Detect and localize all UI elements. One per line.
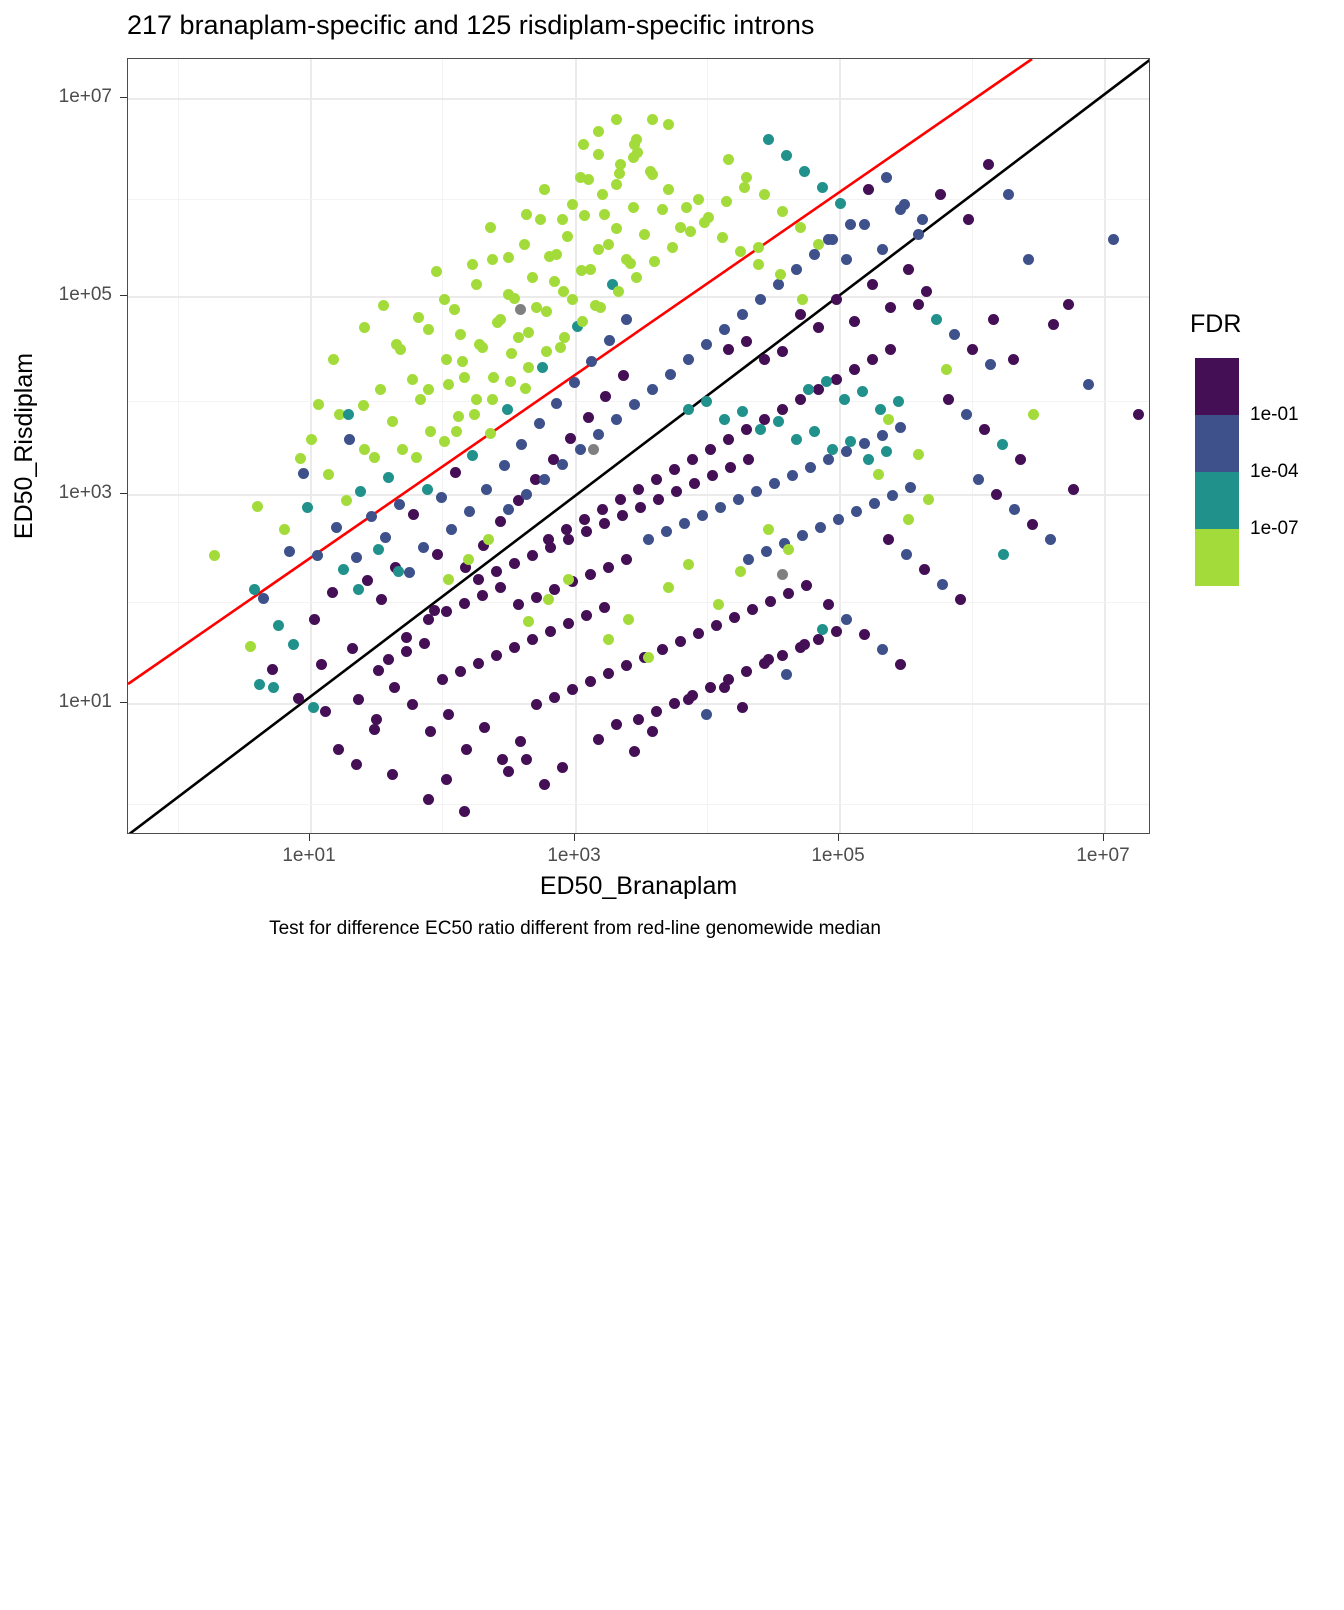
data-point bbox=[921, 286, 932, 297]
data-point bbox=[791, 264, 802, 275]
data-point bbox=[483, 534, 494, 545]
data-point bbox=[867, 279, 878, 290]
data-point bbox=[575, 172, 586, 183]
data-point bbox=[485, 222, 496, 233]
data-point bbox=[449, 304, 460, 315]
data-point bbox=[633, 714, 644, 725]
data-point bbox=[539, 474, 550, 485]
data-point bbox=[629, 139, 640, 150]
data-point bbox=[563, 618, 574, 629]
x-tick-label: 1e+03 bbox=[547, 845, 600, 867]
data-point bbox=[279, 524, 290, 535]
data-point bbox=[557, 214, 568, 225]
data-point bbox=[378, 300, 389, 311]
data-point bbox=[649, 256, 660, 267]
data-point bbox=[733, 494, 744, 505]
data-point bbox=[707, 470, 718, 481]
data-point bbox=[773, 279, 784, 290]
data-point bbox=[359, 322, 370, 333]
data-point bbox=[506, 348, 517, 359]
data-point bbox=[461, 744, 472, 755]
data-point bbox=[903, 514, 914, 525]
data-point bbox=[413, 312, 424, 323]
data-point bbox=[583, 412, 594, 423]
data-point bbox=[333, 744, 344, 755]
data-point bbox=[615, 159, 626, 170]
data-point bbox=[913, 299, 924, 310]
data-point bbox=[739, 182, 750, 193]
data-point bbox=[831, 374, 842, 385]
data-point bbox=[599, 209, 610, 220]
data-point bbox=[675, 222, 686, 233]
data-point bbox=[615, 494, 626, 505]
data-point bbox=[857, 386, 868, 397]
data-point bbox=[941, 364, 952, 375]
data-point bbox=[827, 444, 838, 455]
data-point bbox=[799, 639, 810, 650]
data-point bbox=[769, 478, 780, 489]
data-point bbox=[697, 510, 708, 521]
data-point bbox=[783, 588, 794, 599]
data-point bbox=[369, 452, 380, 463]
data-point bbox=[497, 754, 508, 765]
data-point bbox=[455, 666, 466, 677]
data-point bbox=[355, 486, 366, 497]
data-points-layer bbox=[128, 59, 1150, 834]
data-point bbox=[509, 642, 520, 653]
data-point bbox=[725, 462, 736, 473]
data-point bbox=[443, 379, 454, 390]
data-point bbox=[521, 754, 532, 765]
data-point bbox=[735, 566, 746, 577]
data-point bbox=[621, 254, 632, 265]
data-point bbox=[502, 404, 513, 415]
data-point bbox=[905, 482, 916, 493]
data-point bbox=[943, 394, 954, 405]
x-tick-mark bbox=[838, 834, 839, 841]
data-point bbox=[621, 554, 632, 565]
data-point bbox=[503, 252, 514, 263]
data-point bbox=[701, 396, 712, 407]
data-point bbox=[661, 526, 672, 537]
data-point bbox=[823, 599, 834, 610]
legend-color-segment bbox=[1195, 415, 1239, 472]
data-point bbox=[913, 449, 924, 460]
data-point bbox=[885, 302, 896, 313]
data-point bbox=[422, 484, 433, 495]
data-point bbox=[557, 459, 568, 470]
data-point bbox=[535, 214, 546, 225]
data-point bbox=[747, 604, 758, 615]
legend-key-label: 1e-07 bbox=[1250, 518, 1299, 540]
data-point bbox=[777, 346, 788, 357]
data-point bbox=[885, 344, 896, 355]
data-point bbox=[1009, 504, 1020, 515]
data-point bbox=[759, 354, 770, 365]
data-point bbox=[717, 232, 728, 243]
data-point bbox=[463, 554, 474, 565]
data-point bbox=[755, 294, 766, 305]
data-point bbox=[863, 454, 874, 465]
data-point bbox=[963, 214, 974, 225]
legend-colorbar bbox=[1195, 358, 1239, 586]
data-point bbox=[457, 356, 468, 367]
data-point bbox=[701, 709, 712, 720]
data-point bbox=[477, 590, 488, 601]
data-point bbox=[723, 154, 734, 165]
data-point bbox=[675, 636, 686, 647]
data-point bbox=[1048, 319, 1059, 330]
data-point bbox=[763, 134, 774, 145]
data-point bbox=[593, 429, 604, 440]
data-point bbox=[443, 574, 454, 585]
data-point bbox=[523, 327, 534, 338]
data-point bbox=[845, 219, 856, 230]
data-point bbox=[1045, 534, 1056, 545]
data-point bbox=[679, 518, 690, 529]
plot-panel bbox=[127, 58, 1150, 834]
data-point bbox=[521, 489, 532, 500]
data-point bbox=[531, 302, 542, 313]
data-point bbox=[753, 242, 764, 253]
data-point bbox=[817, 182, 828, 193]
data-point bbox=[683, 559, 694, 570]
data-point bbox=[849, 316, 860, 327]
data-point bbox=[663, 119, 674, 130]
data-point bbox=[595, 302, 606, 313]
data-point bbox=[423, 614, 434, 625]
data-point bbox=[763, 654, 774, 665]
data-point bbox=[509, 558, 520, 569]
data-point bbox=[611, 719, 622, 730]
data-point bbox=[549, 584, 560, 595]
data-point bbox=[719, 414, 730, 425]
data-point bbox=[669, 464, 680, 475]
data-point bbox=[537, 362, 548, 373]
data-point bbox=[1027, 519, 1038, 530]
data-point bbox=[831, 626, 842, 637]
data-point bbox=[671, 486, 682, 497]
data-point bbox=[488, 372, 499, 383]
data-point bbox=[600, 391, 611, 402]
data-point bbox=[313, 399, 324, 410]
data-point bbox=[603, 668, 614, 679]
data-point bbox=[432, 549, 443, 560]
data-point bbox=[629, 746, 640, 757]
data-point bbox=[877, 430, 888, 441]
data-point bbox=[268, 682, 279, 693]
data-point bbox=[737, 702, 748, 713]
data-point bbox=[887, 490, 898, 501]
data-point bbox=[308, 702, 319, 713]
data-point bbox=[859, 219, 870, 230]
data-point bbox=[539, 779, 550, 790]
y-tick-mark bbox=[120, 493, 127, 494]
data-point bbox=[545, 626, 556, 637]
data-point bbox=[453, 411, 464, 422]
data-point bbox=[418, 542, 429, 553]
data-point bbox=[487, 254, 498, 265]
data-point bbox=[869, 498, 880, 509]
data-point bbox=[527, 272, 538, 283]
data-point bbox=[845, 436, 856, 447]
data-point bbox=[327, 587, 338, 598]
data-point bbox=[249, 584, 260, 595]
data-point bbox=[998, 549, 1009, 560]
data-point bbox=[875, 404, 886, 415]
data-point bbox=[516, 439, 527, 450]
data-point bbox=[252, 501, 263, 512]
data-point bbox=[737, 406, 748, 417]
data-point bbox=[320, 706, 331, 717]
y-tick-label: 1e+07 bbox=[59, 86, 112, 108]
data-point bbox=[693, 628, 704, 639]
data-point bbox=[781, 150, 792, 161]
data-point bbox=[561, 524, 572, 535]
data-point bbox=[588, 444, 599, 455]
data-point bbox=[1028, 409, 1039, 420]
data-point bbox=[983, 159, 994, 170]
data-point bbox=[441, 606, 452, 617]
data-point bbox=[331, 522, 342, 533]
x-tick-label: 1e+05 bbox=[811, 845, 864, 867]
data-point bbox=[495, 516, 506, 527]
data-point bbox=[743, 554, 754, 565]
data-point bbox=[893, 396, 904, 407]
data-point bbox=[481, 484, 492, 495]
data-point bbox=[795, 394, 806, 405]
data-point bbox=[593, 734, 604, 745]
data-point bbox=[665, 369, 676, 380]
data-point bbox=[821, 376, 832, 387]
data-point bbox=[353, 694, 364, 705]
data-point bbox=[593, 126, 604, 137]
data-point bbox=[513, 332, 524, 343]
data-point bbox=[611, 223, 622, 234]
data-point bbox=[777, 650, 788, 661]
data-point bbox=[254, 679, 265, 690]
data-point bbox=[407, 374, 418, 385]
data-point bbox=[541, 306, 552, 317]
data-point bbox=[667, 242, 678, 253]
data-point bbox=[581, 526, 592, 537]
data-point bbox=[439, 436, 450, 447]
data-point bbox=[258, 593, 269, 604]
data-point bbox=[351, 552, 362, 563]
data-point bbox=[539, 184, 550, 195]
data-point bbox=[611, 179, 622, 190]
y-tick-label: 1e+03 bbox=[59, 482, 112, 504]
data-point bbox=[567, 684, 578, 695]
data-point bbox=[419, 638, 430, 649]
data-point bbox=[597, 189, 608, 200]
data-point bbox=[411, 452, 422, 463]
data-point bbox=[401, 632, 412, 643]
data-point bbox=[309, 614, 320, 625]
data-point bbox=[813, 322, 824, 333]
data-point bbox=[1008, 354, 1019, 365]
data-point bbox=[809, 426, 820, 437]
data-point bbox=[527, 550, 538, 561]
legend-title: FDR bbox=[1190, 310, 1241, 339]
data-point bbox=[394, 499, 405, 510]
data-point bbox=[859, 438, 870, 449]
data-point bbox=[799, 166, 810, 177]
data-point bbox=[603, 239, 614, 250]
data-point bbox=[841, 254, 852, 265]
data-point bbox=[633, 484, 644, 495]
data-point bbox=[395, 344, 406, 355]
data-point bbox=[439, 294, 450, 305]
data-point bbox=[328, 354, 339, 365]
data-point bbox=[1003, 189, 1014, 200]
data-point bbox=[581, 610, 592, 621]
data-point bbox=[669, 698, 680, 709]
data-point bbox=[919, 564, 930, 575]
data-point bbox=[935, 189, 946, 200]
data-point bbox=[467, 259, 478, 270]
data-point bbox=[681, 202, 692, 213]
data-point bbox=[503, 504, 514, 515]
data-point bbox=[629, 399, 640, 410]
data-point bbox=[534, 418, 545, 429]
data-point bbox=[841, 614, 852, 625]
data-point bbox=[495, 314, 506, 325]
legend-key-label: 1e-01 bbox=[1250, 404, 1299, 426]
data-point bbox=[397, 444, 408, 455]
data-point bbox=[721, 196, 732, 207]
data-point bbox=[923, 494, 934, 505]
data-point bbox=[288, 639, 299, 650]
data-point bbox=[597, 504, 608, 515]
legend-key-label: 1e-04 bbox=[1250, 461, 1299, 483]
data-point bbox=[773, 416, 784, 427]
data-point bbox=[657, 644, 668, 655]
data-point bbox=[949, 329, 960, 340]
data-point bbox=[579, 514, 590, 525]
data-point bbox=[1068, 484, 1079, 495]
data-point bbox=[815, 522, 826, 533]
data-point bbox=[777, 569, 788, 580]
data-point bbox=[901, 549, 912, 560]
data-point bbox=[485, 428, 496, 439]
data-point bbox=[323, 469, 334, 480]
data-point bbox=[593, 244, 604, 255]
data-point bbox=[643, 534, 654, 545]
data-point bbox=[437, 674, 448, 685]
data-point bbox=[541, 346, 552, 357]
data-point bbox=[699, 217, 710, 228]
data-point bbox=[387, 416, 398, 427]
data-point bbox=[988, 314, 999, 325]
data-point bbox=[817, 624, 828, 635]
data-point bbox=[613, 286, 624, 297]
data-point bbox=[316, 659, 327, 670]
data-point bbox=[687, 454, 698, 465]
data-point bbox=[795, 309, 806, 320]
data-point bbox=[761, 546, 772, 557]
data-point bbox=[376, 594, 387, 605]
data-point bbox=[723, 434, 734, 445]
data-point bbox=[353, 584, 364, 595]
data-point bbox=[373, 665, 384, 676]
data-point bbox=[715, 502, 726, 513]
data-point bbox=[797, 294, 808, 305]
data-point bbox=[459, 598, 470, 609]
data-point bbox=[639, 229, 650, 240]
data-point bbox=[436, 492, 447, 503]
x-tick-mark bbox=[1103, 834, 1104, 841]
data-point bbox=[683, 404, 694, 415]
data-point bbox=[559, 332, 570, 343]
data-point bbox=[579, 210, 590, 221]
x-tick-mark bbox=[309, 834, 310, 841]
data-point bbox=[495, 582, 506, 593]
data-point bbox=[759, 414, 770, 425]
data-point bbox=[741, 424, 752, 435]
data-point bbox=[729, 612, 740, 623]
data-point bbox=[973, 474, 984, 485]
data-point bbox=[705, 444, 716, 455]
data-point bbox=[343, 409, 354, 420]
data-point bbox=[471, 279, 482, 290]
data-point bbox=[366, 511, 377, 522]
data-point bbox=[895, 422, 906, 433]
data-point bbox=[499, 460, 510, 471]
data-point bbox=[446, 524, 457, 535]
data-point bbox=[823, 234, 834, 245]
data-point bbox=[645, 166, 656, 177]
data-point bbox=[621, 314, 632, 325]
data-point bbox=[813, 634, 824, 645]
data-point bbox=[647, 384, 658, 395]
data-point bbox=[955, 594, 966, 605]
data-point bbox=[883, 414, 894, 425]
data-point bbox=[513, 599, 524, 610]
data-point bbox=[369, 724, 380, 735]
data-point bbox=[611, 414, 622, 425]
data-point bbox=[877, 644, 888, 655]
data-point bbox=[803, 384, 814, 395]
data-point bbox=[985, 359, 996, 370]
x-axis-title: ED50_Branaplam bbox=[127, 872, 1150, 901]
data-point bbox=[621, 660, 632, 671]
data-point bbox=[841, 446, 852, 457]
data-point bbox=[515, 736, 526, 747]
data-point bbox=[467, 450, 478, 461]
data-point bbox=[298, 468, 309, 479]
data-point bbox=[527, 634, 538, 645]
data-point bbox=[809, 249, 820, 260]
page-title: 217 branaplam-specific and 125 risdiplam… bbox=[127, 10, 1147, 41]
y-axis-title: ED50_Risdiplam bbox=[10, 58, 40, 834]
data-point bbox=[741, 666, 752, 677]
data-point bbox=[663, 582, 674, 593]
data-point bbox=[883, 534, 894, 545]
data-point bbox=[523, 362, 534, 373]
data-point bbox=[737, 309, 748, 320]
data-point bbox=[839, 394, 850, 405]
data-point bbox=[295, 453, 306, 464]
data-point bbox=[575, 444, 586, 455]
data-point bbox=[693, 194, 704, 205]
data-point bbox=[711, 620, 722, 631]
data-point bbox=[979, 424, 990, 435]
data-point bbox=[503, 766, 514, 777]
data-point bbox=[459, 372, 470, 383]
data-point bbox=[551, 249, 562, 260]
data-point bbox=[961, 409, 972, 420]
